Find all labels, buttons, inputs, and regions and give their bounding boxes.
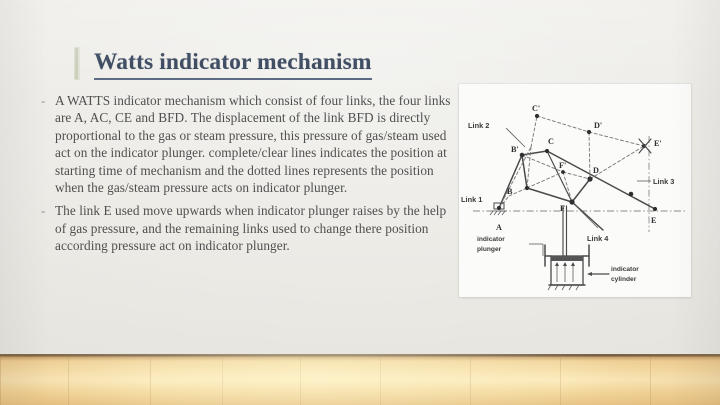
svg-text:C: C — [548, 137, 554, 146]
svg-text:F: F — [560, 204, 565, 213]
figure-label-indicator-plunger-line2: plunger — [477, 246, 502, 253]
bullet-text: The link E used move upwards when indica… — [55, 202, 452, 254]
svg-text:A: A — [496, 223, 502, 232]
figure-label-link-2: Link 2 — [468, 121, 489, 130]
svg-text:E: E — [651, 216, 657, 225]
bullet-text: A WATTS indicator mechanism which consis… — [55, 92, 452, 196]
title-text: Watts indicator mechanism — [94, 47, 372, 80]
svg-text:C': C' — [532, 104, 540, 113]
bullet-list: - A WATTS indicator mechanism which cons… — [40, 92, 452, 261]
slide-canvas: Watts indicator mechanism - A WATTS indi… — [0, 0, 720, 405]
svg-text:B': B' — [511, 145, 519, 154]
mechanism-diagram-svg: Link 2 Link 1 Link 3 Link 4 A B B' C C' … — [459, 84, 691, 297]
list-item: - The link E used move upwards when indi… — [40, 202, 452, 254]
mechanism-diagram-image: Link 2 Link 1 Link 3 Link 4 A B B' C C' … — [459, 84, 691, 297]
list-item: - A WATTS indicator mechanism which cons… — [40, 92, 452, 196]
figure-label-link-1: Link 1 — [461, 195, 482, 204]
bullet-marker: - — [40, 92, 55, 109]
svg-text:E': E' — [654, 139, 662, 148]
page-title: Watts indicator mechanism — [74, 47, 372, 80]
figure-label-link-4: Link 4 — [587, 234, 609, 243]
title-accent-bar — [74, 47, 80, 80]
figure-label-indicator-plunger-line1: indicator — [477, 236, 505, 243]
bullet-marker: - — [40, 202, 55, 219]
svg-text:B: B — [507, 187, 513, 196]
svg-text:D: D — [593, 166, 599, 175]
figure-label-indicator-cylinder-line2: cylinder — [611, 276, 637, 283]
svg-text:F': F' — [559, 161, 566, 170]
figure-label-link-3: Link 3 — [653, 177, 674, 186]
figure-label-indicator-cylinder-line1: indicator — [611, 266, 639, 273]
wood-floor-strip — [0, 354, 720, 405]
svg-text:D': D' — [594, 121, 602, 130]
